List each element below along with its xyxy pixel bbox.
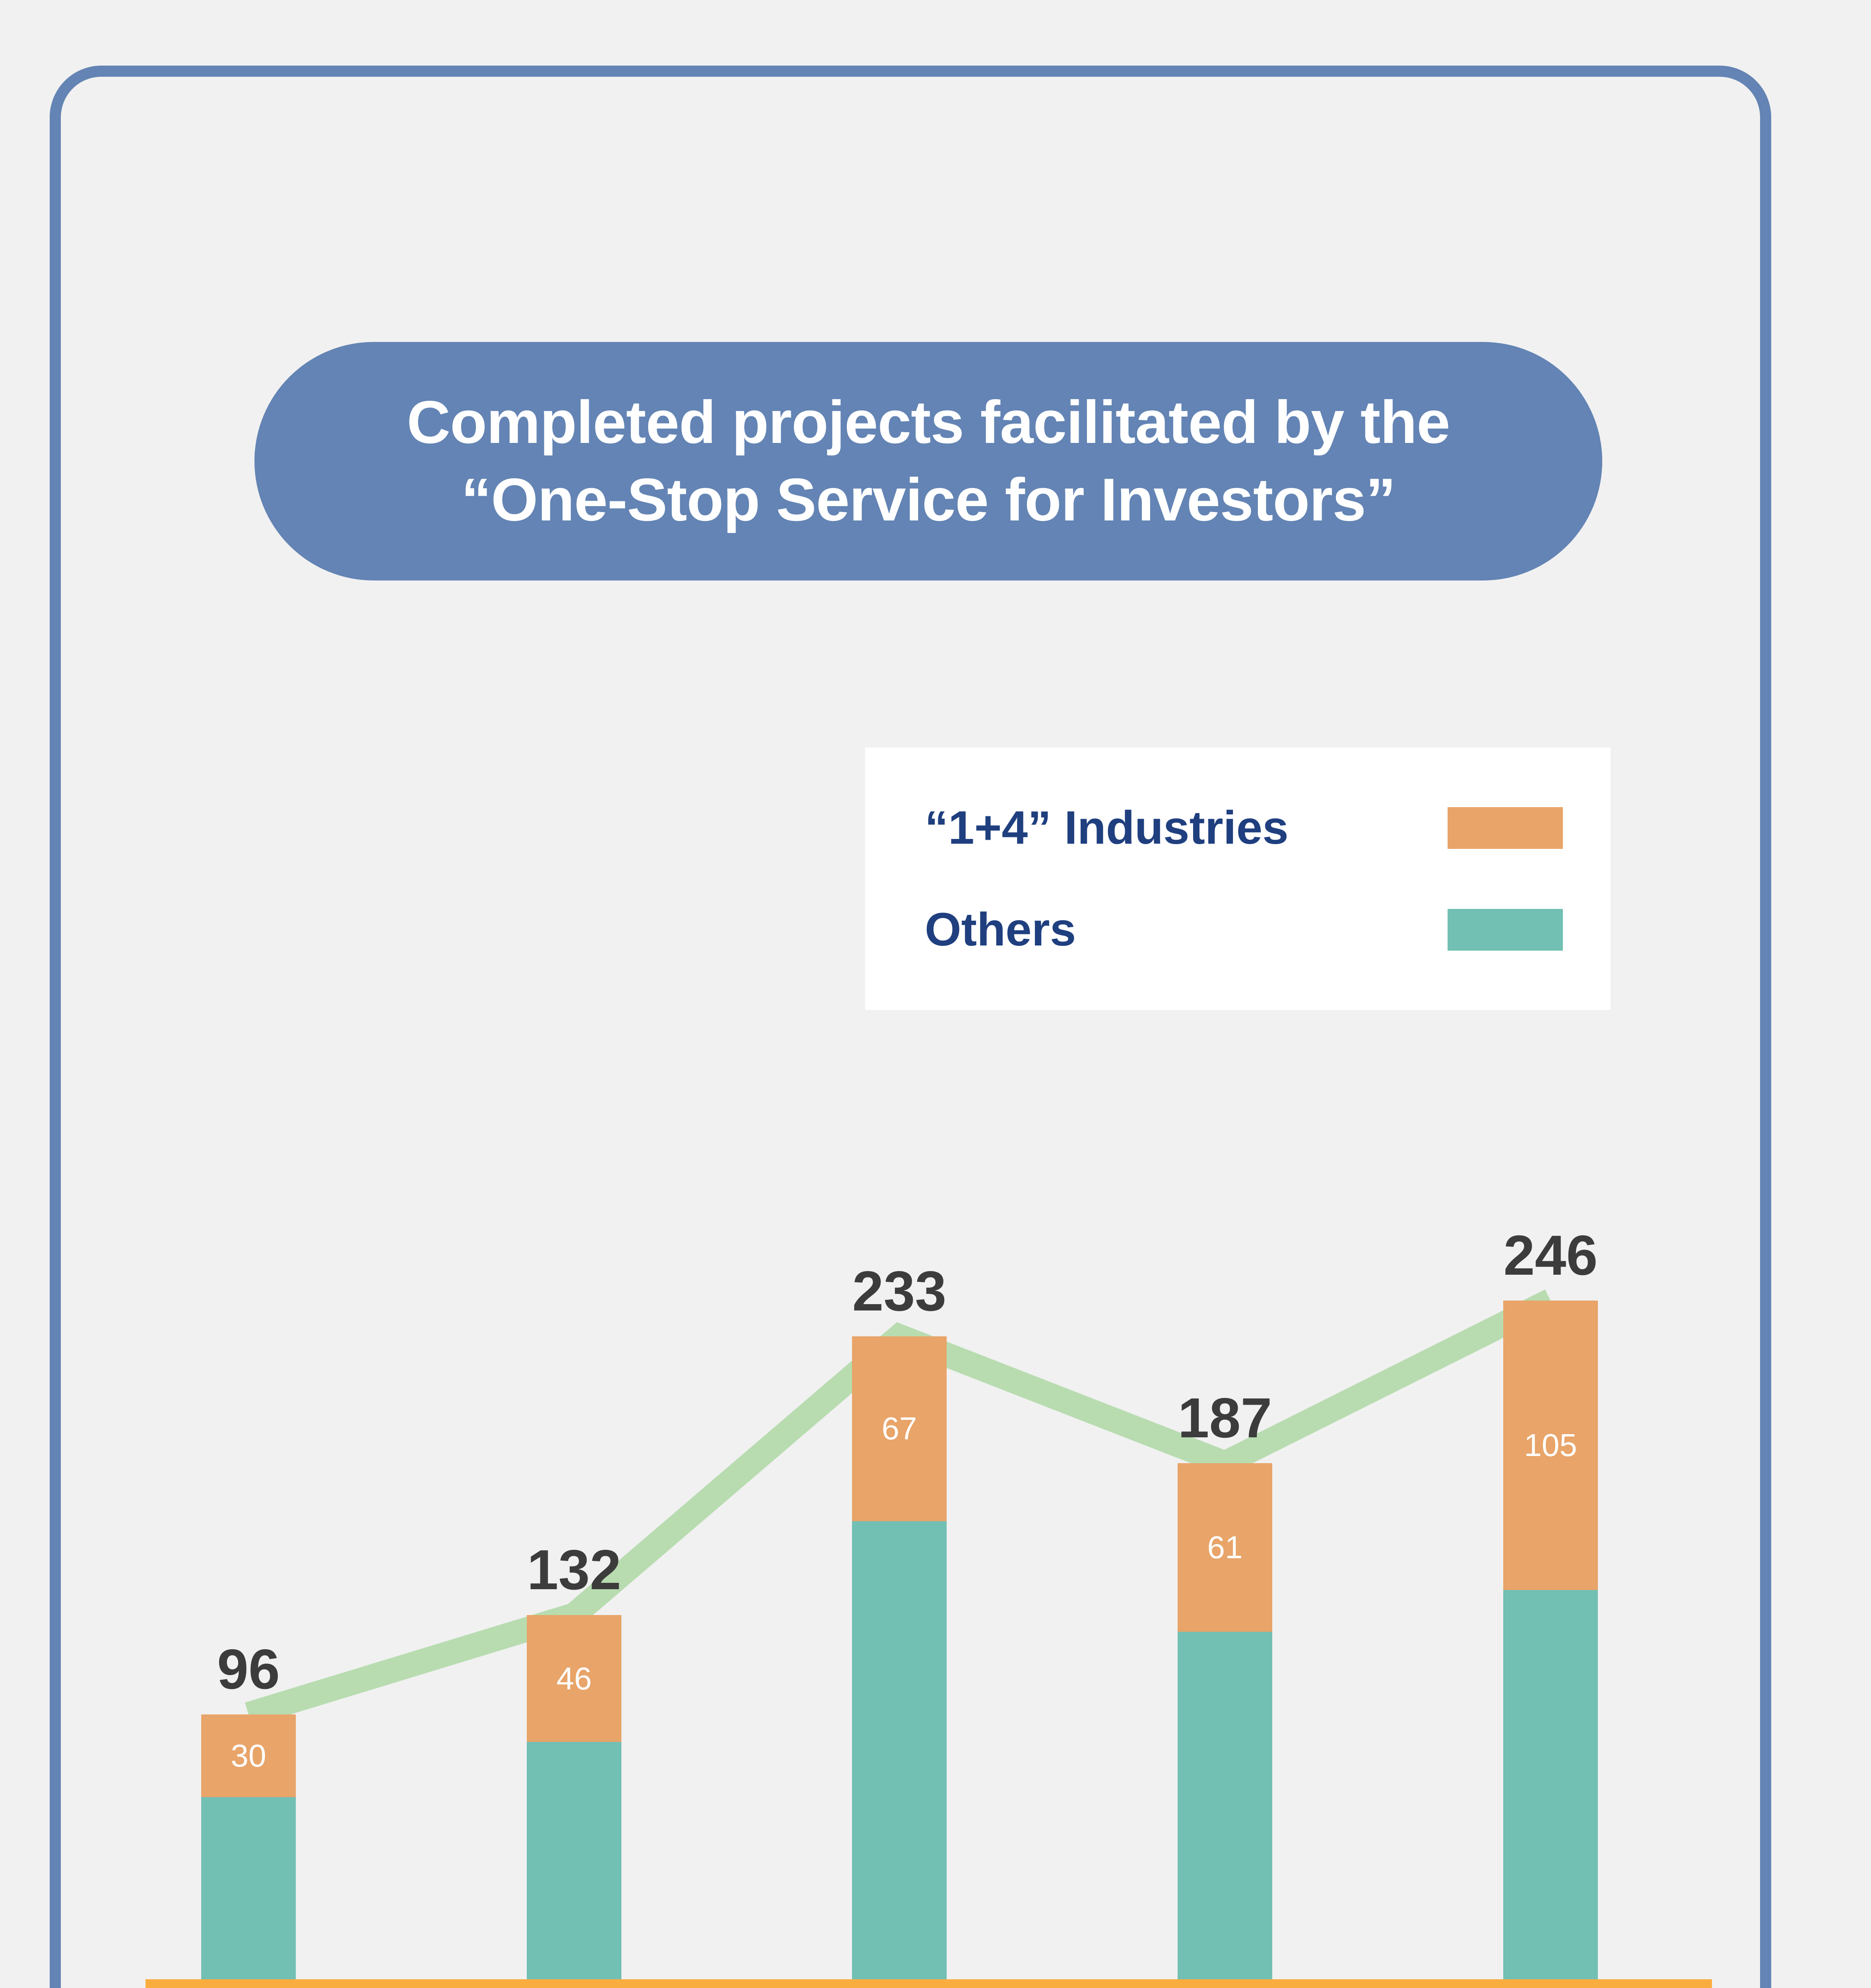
bar-segment-industries-2023: 105 xyxy=(1503,1301,1598,1590)
bar-total-label-2021: 233 xyxy=(800,1259,999,1324)
bar-total-label-2019: 96 xyxy=(149,1637,348,1702)
bar-total-label-2020: 132 xyxy=(475,1538,673,1603)
bar-2020: 46 xyxy=(527,1615,621,1979)
bar-segment-others-2020 xyxy=(527,1742,621,1979)
bar-total-label-2022: 187 xyxy=(1126,1386,1324,1451)
bar-2021: 67 xyxy=(852,1336,947,1979)
stacked-bar-chart: 30466761105 9620191322020233202118720222… xyxy=(0,0,1871,1988)
bar-segment-others-2023 xyxy=(1503,1590,1598,1979)
bar-segment-industries-2021: 67 xyxy=(852,1336,947,1521)
bar-segment-label-2021: 67 xyxy=(882,1410,917,1447)
bar-segment-others-2022 xyxy=(1178,1632,1272,1979)
bar-2023: 105 xyxy=(1503,1301,1598,1979)
bar-segment-others-2021 xyxy=(852,1521,947,1979)
bar-segment-label-2022: 61 xyxy=(1207,1529,1243,1566)
bar-segment-others-2019 xyxy=(201,1797,296,1979)
bar-2019: 30 xyxy=(201,1714,296,1979)
bar-segment-industries-2020: 46 xyxy=(527,1615,621,1742)
bar-2022: 61 xyxy=(1178,1463,1272,1979)
bar-segment-label-2020: 46 xyxy=(557,1660,592,1697)
x-axis-line xyxy=(146,1979,1712,1988)
bar-segment-label-2023: 105 xyxy=(1524,1427,1577,1464)
plot-area: 30466761105 xyxy=(146,1074,1712,1979)
bar-total-label-2023: 246 xyxy=(1451,1223,1650,1288)
bar-segment-industries-2019: 30 xyxy=(201,1714,296,1797)
bar-segment-industries-2022: 61 xyxy=(1178,1463,1272,1631)
bar-segment-label-2019: 30 xyxy=(231,1738,266,1774)
